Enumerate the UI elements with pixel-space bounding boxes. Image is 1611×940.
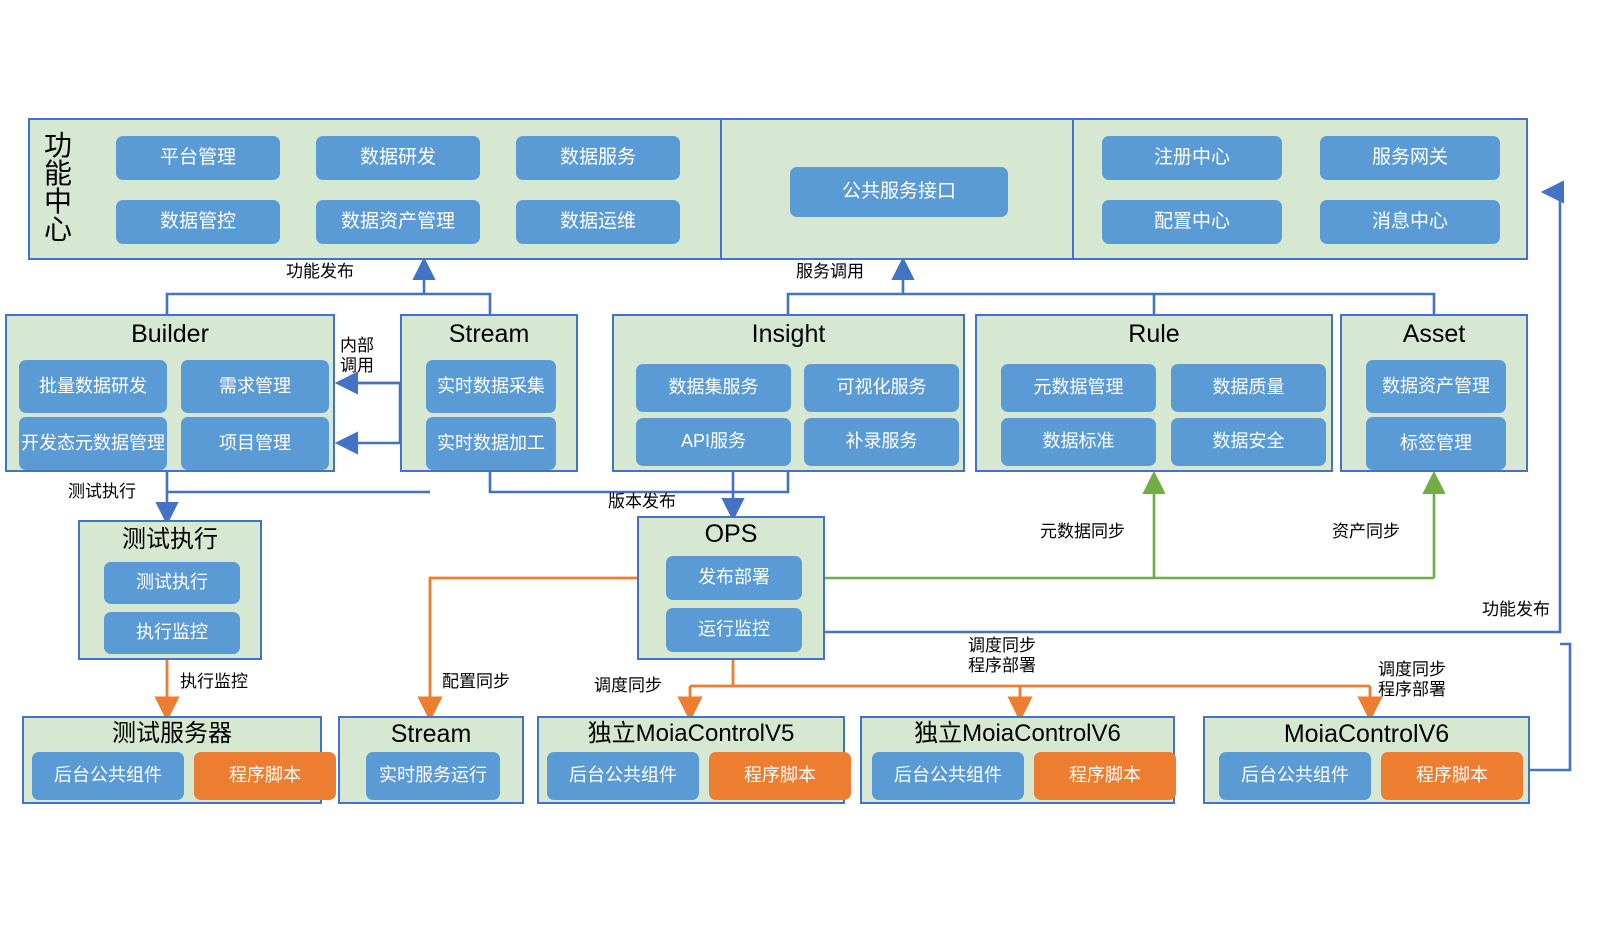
function-chip-data-service[interactable]: 数据服务 <box>516 136 680 180</box>
function-center-divider-2 <box>1072 120 1074 258</box>
function-chip-data-control[interactable]: 数据管控 <box>116 200 280 244</box>
edge-label-schedule-sync: 调度同步 <box>594 676 662 696</box>
stream-server-chip-realtime-service-run[interactable]: 实时服务运行 <box>366 752 500 800</box>
platform-panel-stream: Stream 实时数据采集 实时数据加工 <box>400 314 578 472</box>
function-chip-registry-center[interactable]: 注册中心 <box>1102 136 1282 180</box>
platform-panel-asset: Asset 数据资产管理 标签管理 <box>1340 314 1528 472</box>
platform-title-builder: Builder <box>7 322 333 347</box>
platform-panel-builder: Builder 批量数据研发 需求管理 开发态元数据管理 项目管理 <box>5 314 335 472</box>
insight-chip-visualization-service[interactable]: 可视化服务 <box>804 364 959 412</box>
edge-label-asset-sync: 资产同步 <box>1332 522 1400 542</box>
function-center-side-label: 功能中心 <box>36 132 80 244</box>
asset-chip-data-asset-mgmt[interactable]: 数据资产管理 <box>1366 360 1506 413</box>
edge-label-service-call: 服务调用 <box>796 262 864 282</box>
ops-chip-runtime-monitor[interactable]: 运行监控 <box>666 608 802 652</box>
insight-chip-api-service[interactable]: API服务 <box>636 418 791 466</box>
function-center-divider-1 <box>720 120 722 258</box>
function-chip-platform-mgmt[interactable]: 平台管理 <box>116 136 280 180</box>
server-panel-standalone-v6: 独立MoiaControlV6 后台公共组件 程序脚本 <box>860 716 1175 804</box>
edge-label-schedule-sync-deploy-2: 调度同步程序部署 <box>1378 660 1446 699</box>
standalone-v6-chip-program-script[interactable]: 程序脚本 <box>1034 752 1176 800</box>
middle-panel-ops: OPS 发布部署 运行监控 <box>637 516 825 660</box>
platform-title-asset: Asset <box>1342 322 1526 347</box>
test-exec-chip-test-execution[interactable]: 测试执行 <box>104 562 240 604</box>
server-panel-stream: Stream 实时服务运行 <box>338 716 524 804</box>
rule-chip-metadata-mgmt[interactable]: 元数据管理 <box>1001 364 1156 412</box>
insight-chip-dataset-service[interactable]: 数据集服务 <box>636 364 791 412</box>
function-chip-data-dev[interactable]: 数据研发 <box>316 136 480 180</box>
rule-chip-data-quality[interactable]: 数据质量 <box>1171 364 1326 412</box>
ops-chip-release-deploy[interactable]: 发布部署 <box>666 556 802 600</box>
function-chip-config-center[interactable]: 配置中心 <box>1102 200 1282 244</box>
standalone-v6-chip-backend-common[interactable]: 后台公共组件 <box>872 752 1024 800</box>
stream-chip-realtime-collect[interactable]: 实时数据采集 <box>426 360 556 413</box>
edge-label-feature-publish-right: 功能发布 <box>1460 600 1550 620</box>
stream-chip-realtime-process[interactable]: 实时数据加工 <box>426 417 556 470</box>
platform-title-insight: Insight <box>614 322 963 347</box>
middle-title-test-execution: 测试执行 <box>80 528 260 552</box>
edge-label-schedule-sync-deploy: 调度同步程序部署 <box>968 636 1036 675</box>
server-title-standalone-v6: 独立MoiaControlV6 <box>862 722 1173 746</box>
server-panel-test-server: 测试服务器 后台公共组件 程序脚本 <box>22 716 322 804</box>
test-server-chip-backend-common[interactable]: 后台公共组件 <box>32 752 184 800</box>
function-chip-message-center[interactable]: 消息中心 <box>1320 200 1500 244</box>
test-server-chip-program-script[interactable]: 程序脚本 <box>194 752 336 800</box>
test-exec-chip-execution-monitor[interactable]: 执行监控 <box>104 612 240 654</box>
server-panel-standalone-v5: 独立MoiaControlV5 后台公共组件 程序脚本 <box>537 716 845 804</box>
server-title-stream: Stream <box>340 722 522 747</box>
standalone-v5-chip-backend-common[interactable]: 后台公共组件 <box>547 752 699 800</box>
function-chip-data-ops[interactable]: 数据运维 <box>516 200 680 244</box>
middle-panel-test-execution: 测试执行 测试执行 执行监控 <box>78 520 262 660</box>
moiacontrol-v6-chip-program-script[interactable]: 程序脚本 <box>1381 752 1523 800</box>
platform-title-rule: Rule <box>977 322 1331 347</box>
edge-label-metadata-sync: 元数据同步 <box>1040 522 1125 542</box>
asset-chip-tag-mgmt[interactable]: 标签管理 <box>1366 417 1506 470</box>
server-panel-moiacontrol-v6: MoiaControlV6 后台公共组件 程序脚本 <box>1203 716 1530 804</box>
builder-chip-dev-metadata-mgmt[interactable]: 开发态元数据管理 <box>19 417 167 470</box>
standalone-v5-chip-program-script[interactable]: 程序脚本 <box>709 752 851 800</box>
edge-label-test-execute: 测试执行 <box>68 482 136 502</box>
function-chip-public-service-interface[interactable]: 公共服务接口 <box>790 167 1008 217</box>
architecture-diagram: 功能中心 平台管理 数据研发 数据服务 数据管控 数据资产管理 数据运维 公共服… <box>0 0 1611 940</box>
edge-label-config-sync: 配置同步 <box>442 672 510 692</box>
function-center-panel: 功能中心 平台管理 数据研发 数据服务 数据管控 数据资产管理 数据运维 公共服… <box>28 118 1528 260</box>
platform-panel-rule: Rule 元数据管理 数据质量 数据标准 数据安全 <box>975 314 1333 472</box>
server-title-standalone-v5: 独立MoiaControlV5 <box>539 722 843 746</box>
server-title-test-server: 测试服务器 <box>24 722 320 746</box>
edge-label-feature-publish: 功能发布 <box>286 262 354 282</box>
edge-label-execution-monitor: 执行监控 <box>180 672 248 692</box>
edge-label-internal-call: 内部调用 <box>340 336 374 375</box>
moiacontrol-v6-chip-backend-common[interactable]: 后台公共组件 <box>1219 752 1371 800</box>
rule-chip-data-security[interactable]: 数据安全 <box>1171 418 1326 466</box>
rule-chip-data-standard[interactable]: 数据标准 <box>1001 418 1156 466</box>
middle-title-ops: OPS <box>639 522 823 547</box>
edge-label-version-publish: 版本发布 <box>608 492 676 512</box>
function-chip-data-asset-mgmt[interactable]: 数据资产管理 <box>316 200 480 244</box>
builder-chip-requirement-mgmt[interactable]: 需求管理 <box>181 360 329 413</box>
platform-panel-insight: Insight 数据集服务 可视化服务 API服务 补录服务 <box>612 314 965 472</box>
builder-chip-batch-data-dev[interactable]: 批量数据研发 <box>19 360 167 413</box>
insight-chip-supplement-service[interactable]: 补录服务 <box>804 418 959 466</box>
function-chip-service-gateway[interactable]: 服务网关 <box>1320 136 1500 180</box>
server-title-moiacontrol-v6: MoiaControlV6 <box>1205 722 1528 747</box>
platform-title-stream: Stream <box>402 322 576 347</box>
builder-chip-project-mgmt[interactable]: 项目管理 <box>181 417 329 470</box>
